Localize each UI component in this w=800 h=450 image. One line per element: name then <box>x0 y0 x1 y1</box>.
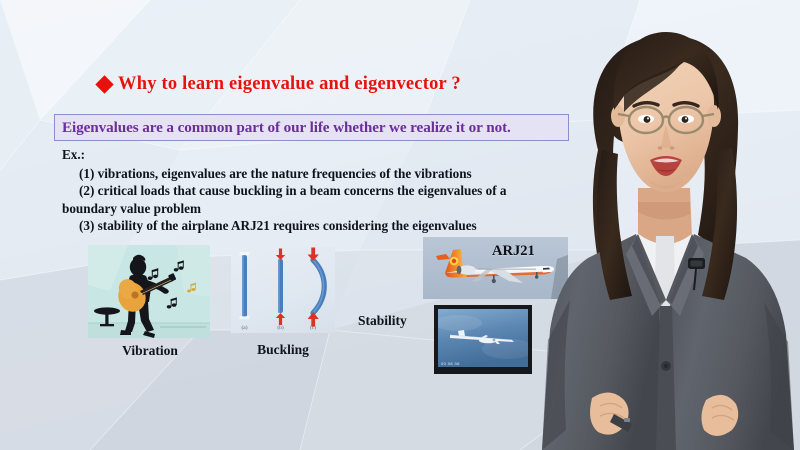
buckling-diagram: (a) (b) (c) <box>231 247 335 333</box>
example-item-1: (1) vibrations, eigenvalues are the natu… <box>62 165 572 183</box>
video-timecode: 00 08 36 <box>441 361 460 366</box>
subtitle-callout-box: Eigenvalues are a common part of our lif… <box>54 114 569 141</box>
subtitle-text: Eigenvalues are a common part of our lif… <box>62 119 511 137</box>
guitarist-illustration <box>88 245 210 338</box>
presenter-video-overlay <box>540 0 800 450</box>
examples-block: Ex.: (1) vibrations, eigenvalues are the… <box>62 146 572 235</box>
page-title: Why to learn eigenvalue and eigenvector … <box>98 74 461 95</box>
example-item-2: (2) critical loads that cause buckling i… <box>62 182 572 200</box>
example-item-2-continued: boundary value problem <box>62 200 572 218</box>
red-diamond-icon <box>95 75 113 93</box>
example-item-3: (3) stability of the airplane ARJ21 requ… <box>62 217 572 235</box>
svg-text:(b): (b) <box>277 324 283 331</box>
lecture-slide: Why to learn eigenvalue and eigenvector … <box>0 0 800 450</box>
svg-text:(c): (c) <box>310 324 316 331</box>
svg-text:(a): (a) <box>242 324 248 331</box>
page-title-text: Why to learn eigenvalue and eigenvector … <box>118 74 461 95</box>
vibration-caption: Vibration <box>80 343 220 359</box>
examples-heading: Ex.: <box>62 146 572 164</box>
buckling-caption: Buckling <box>219 342 347 358</box>
stability-video-thumbnail[interactable]: 00 08 36 <box>434 305 532 374</box>
arj21-label: ARJ21 <box>492 243 535 260</box>
buckling-figure: (a) (b) (c) Buckling <box>231 247 335 333</box>
vibration-figure: Vibration <box>88 245 210 338</box>
stability-caption: Stability <box>358 313 407 329</box>
video-screen: 00 08 36 <box>438 309 528 367</box>
